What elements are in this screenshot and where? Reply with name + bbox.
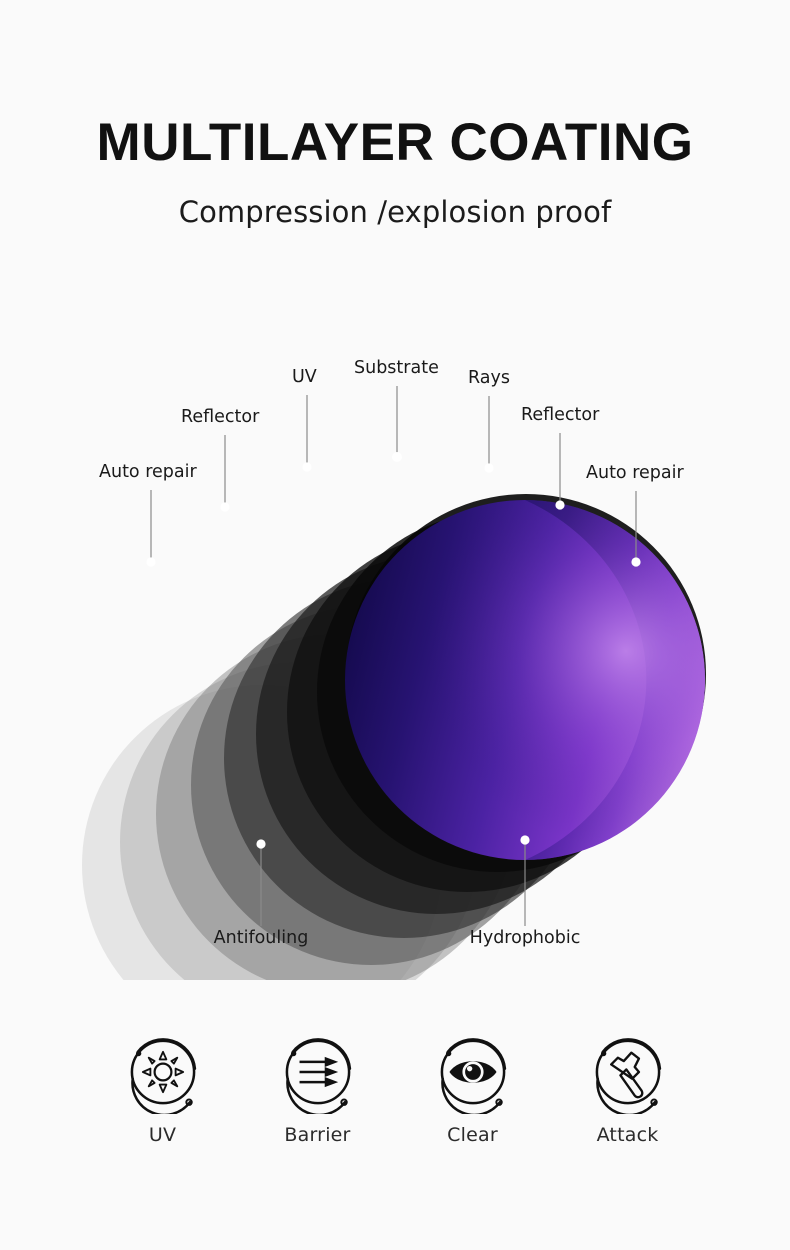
arrows-right-icon bbox=[276, 1030, 360, 1114]
feature-label: Barrier bbox=[284, 1124, 350, 1146]
callout-dot bbox=[146, 557, 155, 566]
callout-label: Rays bbox=[468, 368, 510, 388]
layer-diagram: Auto repair Reflector UV Substrate bbox=[0, 330, 790, 980]
callout-label: Auto repair bbox=[99, 462, 197, 482]
eye-icon bbox=[431, 1030, 515, 1114]
callout-reflector-left: Reflector bbox=[181, 407, 260, 512]
sun-icon bbox=[121, 1030, 205, 1114]
callout-uv: UV bbox=[292, 367, 317, 472]
callout-dot bbox=[520, 835, 529, 844]
callout-dot bbox=[484, 463, 493, 472]
feature-item-uv[interactable]: UV bbox=[85, 1030, 240, 1146]
callout-dot bbox=[220, 502, 229, 511]
header: MULTILAYER COATING Compression /explosio… bbox=[0, 115, 790, 229]
feature-label: Clear bbox=[447, 1124, 498, 1146]
callout-label: Hydrophobic bbox=[470, 928, 581, 948]
callout-label: Antifouling bbox=[214, 928, 309, 948]
callout-label: Reflector bbox=[181, 407, 260, 427]
page-title: MULTILAYER COATING bbox=[0, 115, 790, 171]
hammer-icon bbox=[586, 1030, 670, 1114]
callout-label: Auto repair bbox=[586, 463, 684, 483]
callout-label: Substrate bbox=[354, 358, 439, 378]
page-subtitle: Compression /explosion proof bbox=[0, 195, 790, 229]
callout-rays: Rays bbox=[468, 368, 510, 473]
callout-auto-repair-left: Auto repair bbox=[99, 462, 197, 567]
feature-label: UV bbox=[149, 1124, 176, 1146]
poster-page: MULTILAYER COATING Compression /explosio… bbox=[0, 0, 790, 1250]
callout-dot bbox=[256, 839, 265, 848]
feature-item-clear[interactable]: Clear bbox=[395, 1030, 550, 1146]
feature-list: UV Barrier bbox=[0, 1030, 790, 1146]
callout-substrate: Substrate bbox=[354, 358, 439, 462]
feature-label: Attack bbox=[597, 1124, 659, 1146]
feature-item-attack[interactable]: Attack bbox=[550, 1030, 705, 1146]
callout-label: UV bbox=[292, 367, 317, 387]
callout-dot bbox=[392, 452, 402, 462]
callout-label: Reflector bbox=[521, 405, 600, 425]
callout-dot bbox=[631, 557, 640, 566]
feature-item-barrier[interactable]: Barrier bbox=[240, 1030, 395, 1146]
callout-dot bbox=[302, 462, 311, 471]
callout-dot bbox=[555, 500, 564, 509]
hydrophobic-lens bbox=[345, 500, 705, 860]
callout-reflector-right: Reflector bbox=[521, 405, 600, 510]
